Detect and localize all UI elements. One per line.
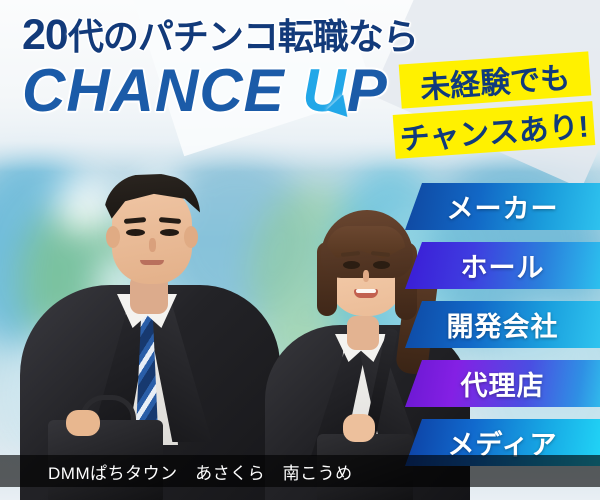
category-tag-list: メーカー ホール 開発会社 代理店 メディア bbox=[405, 183, 600, 478]
caption-text: DMMぱちタウン あさくら 南こうめ bbox=[0, 459, 353, 484]
headline-age-number: 20 bbox=[22, 11, 68, 59]
recruit-banner[interactable]: 20代のパチンコ転職なら CHANCE UP 未経験でも チャンスあり! メーカ… bbox=[0, 0, 600, 500]
caption-band: DMMぱちタウン あさくら 南こうめ bbox=[0, 455, 600, 487]
headline-line-1-suffix: なら bbox=[348, 16, 418, 57]
tag-maker-label: メーカー bbox=[447, 187, 559, 226]
headline: 20代のパチンコ転職なら CHANCE UP bbox=[22, 14, 418, 121]
headline-line-2: CHANCE UP bbox=[22, 61, 418, 121]
tag-maker[interactable]: メーカー bbox=[405, 183, 600, 230]
tag-agency[interactable]: 代理店 bbox=[405, 360, 600, 407]
tag-developer-label: 開発会社 bbox=[447, 305, 559, 344]
tag-hall[interactable]: ホール bbox=[405, 242, 600, 289]
tag-developer[interactable]: 開発会社 bbox=[405, 301, 600, 348]
headline-line-1-rest: 代のパチンコ転職 bbox=[68, 16, 348, 57]
headline-line-1: 20代のパチンコ転職なら bbox=[22, 14, 418, 57]
businessman-photo bbox=[20, 170, 280, 500]
tag-hall-label: ホール bbox=[461, 246, 545, 285]
headline-up-p: P bbox=[347, 57, 388, 124]
headline-chance-text: CHANCE bbox=[22, 57, 302, 124]
tag-agency-label: 代理店 bbox=[461, 364, 545, 403]
